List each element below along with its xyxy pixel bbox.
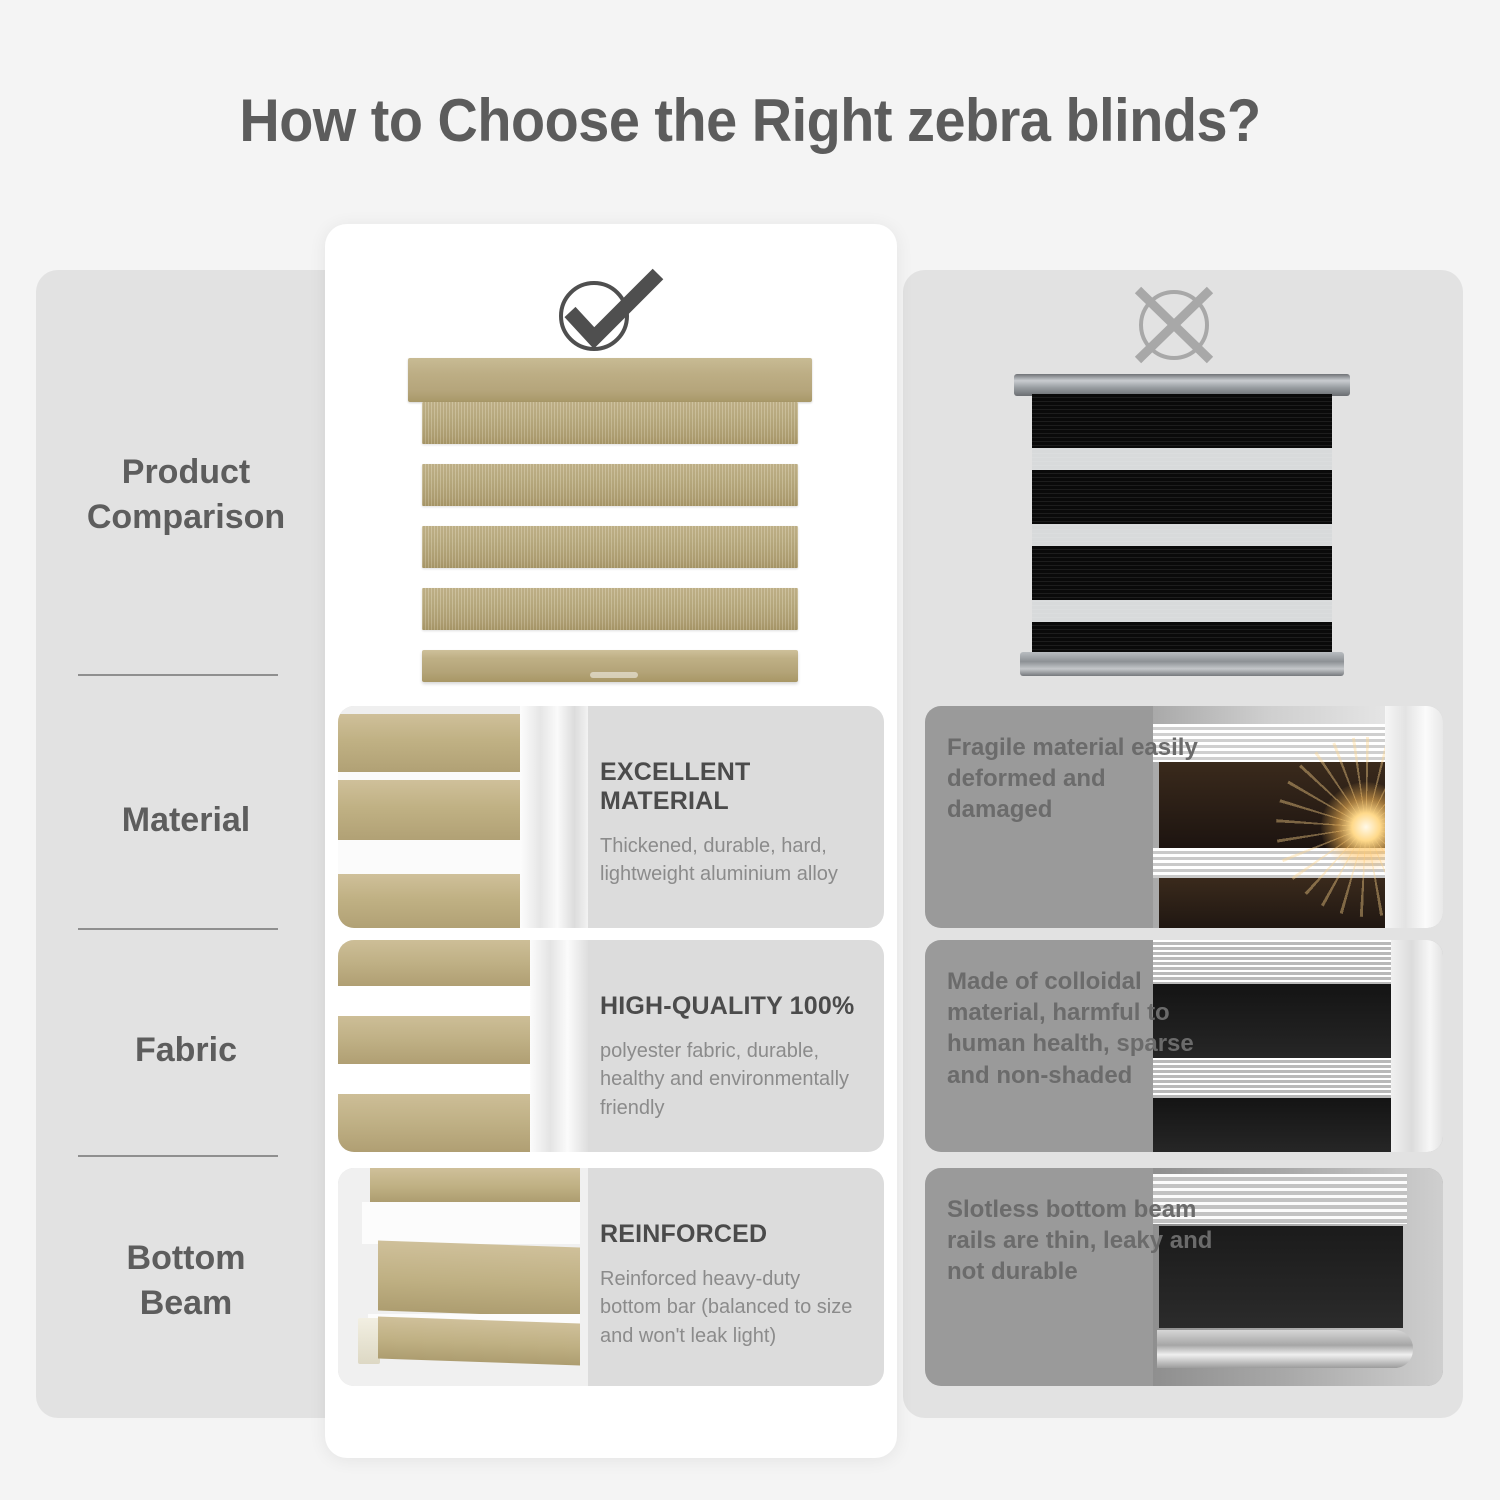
feature-heading: EXCELLENT MATERIAL (600, 758, 862, 816)
blind-zebra-fabric (1032, 394, 1332, 656)
blind-valance (408, 358, 812, 402)
blind-headrail (1014, 374, 1350, 396)
wood-blind-in-white-window-frame-photo (338, 706, 588, 928)
bad-feature-card-fabric: Made of colloidal material, harmful to h… (925, 940, 1443, 1152)
blind-bottom-bar (422, 650, 798, 682)
blind-slat (422, 526, 798, 568)
category-label-line2: Beam (56, 1281, 316, 1326)
good-feature-card-material: EXCELLENT MATERIAL Thickened, durable, h… (338, 706, 884, 928)
bad-feature-text: Made of colloidal material, harmful to h… (947, 966, 1215, 1091)
category-label-line1: Material (56, 798, 316, 843)
bad-feature-card-bottom-beam: Slotless bottom beam rails are thin, lea… (925, 1168, 1443, 1386)
bad-feature-text: Slotless bottom beam rails are thin, lea… (947, 1194, 1215, 1288)
wood-zebra-fabric-closeup-photo (338, 940, 588, 1152)
category-label-bottom-beam: Bottom Beam (56, 1236, 316, 1326)
category-divider-2 (78, 928, 278, 930)
blind-slat (422, 464, 798, 506)
blind-slat (422, 588, 798, 630)
bad-feature-card-material: Fragile material easily deformed and dam… (925, 706, 1443, 928)
category-label-line1: Bottom (56, 1236, 316, 1281)
category-label-material: Material (56, 798, 316, 843)
comparison-infographic: How to Choose the Right zebra blinds? Pr… (0, 0, 1500, 1500)
feature-heading: REINFORCED (600, 1220, 862, 1249)
feature-body: polyester fabric, durable, healthy and e… (600, 1037, 862, 1122)
bad-hero-product-image (1014, 374, 1350, 680)
category-divider-1 (78, 674, 278, 676)
blind-bottom-rail (1020, 652, 1344, 676)
feature-body: Reinforced heavy-duty bottom bar (balanc… (600, 1265, 862, 1350)
reinforced-bottom-bar-photo (338, 1168, 588, 1386)
category-label-line1: Fabric (56, 1028, 316, 1073)
feature-body: Thickened, durable, hard, lightweight al… (600, 832, 862, 889)
bad-feature-text: Fragile material easily deformed and dam… (947, 732, 1215, 826)
category-label-line1: Product (56, 450, 316, 495)
good-feature-card-bottom-beam: REINFORCED Reinforced heavy-duty bottom … (338, 1168, 884, 1386)
category-label-product-comparison: Product Comparison (56, 450, 316, 540)
category-divider-3 (78, 1155, 278, 1157)
feature-heading: HIGH-QUALITY 100% (600, 992, 862, 1021)
good-hero-product-image (408, 358, 812, 696)
good-feature-card-fabric: HIGH-QUALITY 100% polyester fabric, dura… (338, 940, 884, 1152)
blind-slat (422, 402, 798, 444)
page-title: How to Choose the Right zebra blinds? (53, 86, 1448, 155)
category-label-fabric: Fabric (56, 1028, 316, 1073)
check-circle-icon (548, 268, 664, 354)
x-circle-icon (1126, 282, 1222, 368)
category-label-line2: Comparison (56, 495, 316, 540)
